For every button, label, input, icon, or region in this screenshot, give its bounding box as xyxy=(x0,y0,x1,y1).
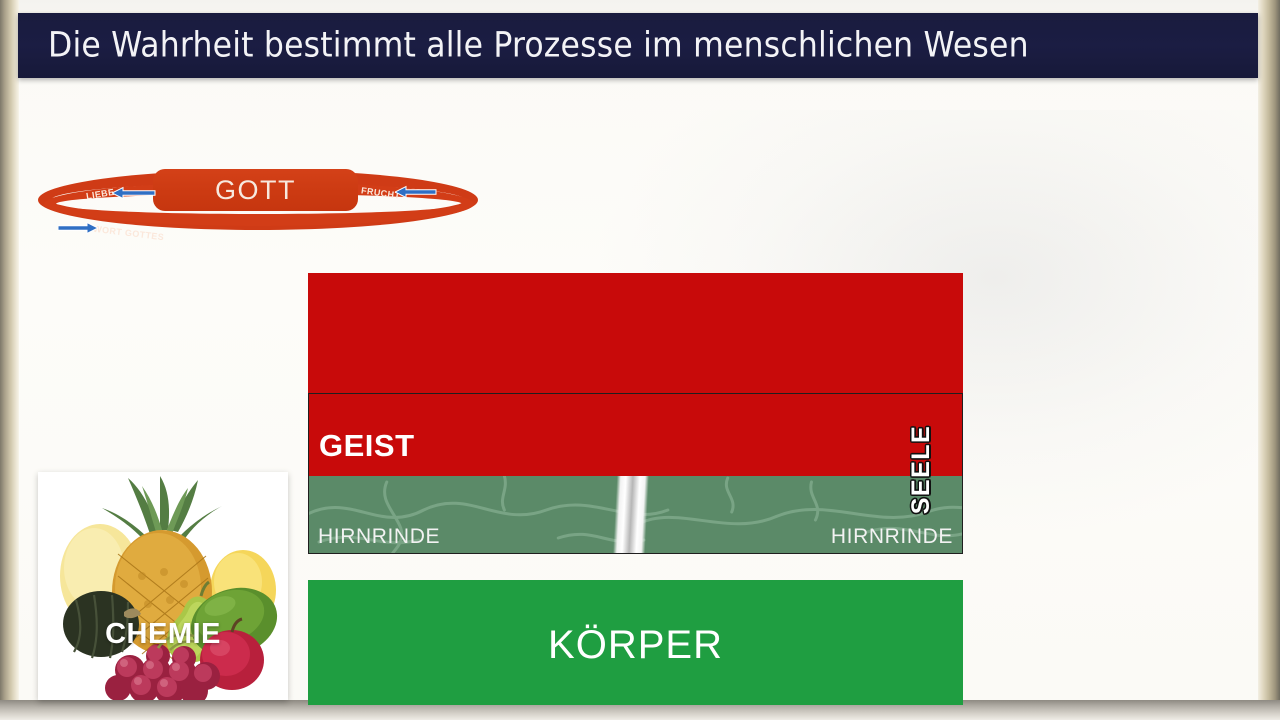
chemistry-label: CHEMIE xyxy=(38,618,288,651)
arrow-right-icon xyxy=(58,221,98,235)
arrow-left-icon xyxy=(112,186,156,200)
spirit-upper-block xyxy=(308,273,963,393)
page-title: Die Wahrheit bestimmt alle Prozesse im m… xyxy=(48,28,1029,63)
brain-fissure xyxy=(613,476,649,553)
arrow-left-icon xyxy=(395,185,437,199)
god-cycle-diagram: GOTT LIEBE FRUCHT WORT GOTTES xyxy=(38,160,488,255)
fruit-photo xyxy=(38,472,288,700)
chemistry-card: CHEMIE xyxy=(38,472,288,700)
cortex-label-left: HIRNRINDE xyxy=(318,525,440,549)
frame-left-edge xyxy=(0,0,19,720)
slide-title-bar: Die Wahrheit bestimmt alle Prozesse im m… xyxy=(18,13,1258,78)
spirit-band: GEIST xyxy=(309,394,962,476)
human-being-diagram: GEIST HIRNR xyxy=(308,273,963,705)
god-center-box: GOTT xyxy=(153,169,358,211)
god-center-label: GOTT xyxy=(215,175,296,206)
slide-canvas: Die Wahrheit bestimmt alle Prozesse im m… xyxy=(0,0,1280,720)
cortex-label-right: HIRNRINDE xyxy=(831,525,953,549)
body-label: KÖRPER xyxy=(548,623,723,668)
cortex-band: HIRNRINDE HIRNRINDE xyxy=(309,476,962,553)
spirit-label: GEIST xyxy=(319,428,415,464)
frame-right-edge xyxy=(1258,0,1280,720)
spirit-soul-panel: GEIST HIRNR xyxy=(308,393,963,554)
body-block: KÖRPER xyxy=(308,580,963,705)
